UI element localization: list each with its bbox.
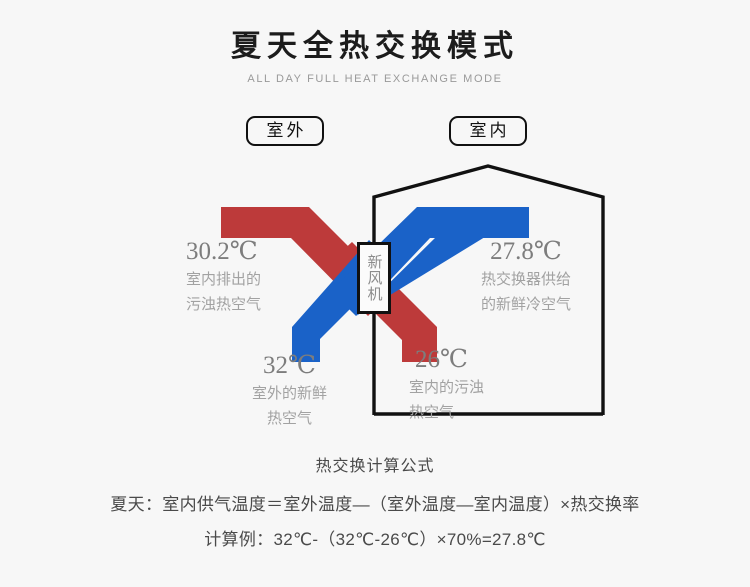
fresh-air-unit-box: 新风机: [357, 242, 391, 314]
callout-exhaust-desc-1: 室内排出的: [186, 269, 272, 291]
callout-return-desc-1: 室内的污浊: [409, 377, 484, 399]
callout-exhaust-desc-2: 污浊热空气: [186, 294, 272, 316]
page-subtitle: ALL DAY FULL HEAT EXCHANGE MODE: [0, 73, 750, 85]
callout-fresh-desc-1: 室外的新鲜: [252, 383, 327, 405]
formula-line-1: 夏天：室内供气温度＝室外温度—（室外温度—室内温度）×热交换率: [0, 490, 750, 515]
callout-supply-desc-1: 热交换器供给: [481, 269, 571, 291]
callout-fresh-air: 32℃ 室外的新鲜 热空气: [252, 352, 327, 430]
zone-label-outdoor: 室外: [246, 116, 324, 146]
formula-title: 热交换计算公式: [0, 455, 750, 479]
formula-line-2: 计算例：32℃-（32℃-26℃）×70%=27.8℃: [0, 525, 750, 550]
callout-return-air: 26℃ 室内的污浊 热空气: [409, 346, 484, 424]
infographic-page: 夏天全热交换模式 ALL DAY FULL HEAT EXCHANGE MODE…: [0, 0, 750, 587]
callout-supply-temp: 27.8℃: [481, 238, 571, 266]
fresh-air-unit-label: 新风机: [364, 254, 385, 302]
callout-return-desc-2: 热空气: [409, 402, 484, 424]
callout-supply-desc-2: 的新鲜冷空气: [481, 294, 571, 316]
callout-exhaust-temp: 30.2℃: [186, 238, 272, 266]
page-title: 夏天全热交换模式: [0, 28, 750, 66]
callout-fresh-temp: 32℃: [252, 352, 327, 380]
callout-supply-air: 27.8℃ 热交换器供给 的新鲜冷空气: [481, 238, 571, 316]
zone-label-indoor: 室内: [449, 116, 527, 146]
callout-return-temp: 26℃: [409, 346, 484, 374]
callout-exhaust-air: 30.2℃ 室内排出的 污浊热空气: [186, 238, 272, 316]
callout-fresh-desc-2: 热空气: [252, 408, 327, 430]
page-header: 夏天全热交换模式 ALL DAY FULL HEAT EXCHANGE MODE: [0, 28, 750, 85]
formula-block: 热交换计算公式 夏天：室内供气温度＝室外温度—（室外温度—室内温度）×热交换率 …: [0, 455, 750, 550]
